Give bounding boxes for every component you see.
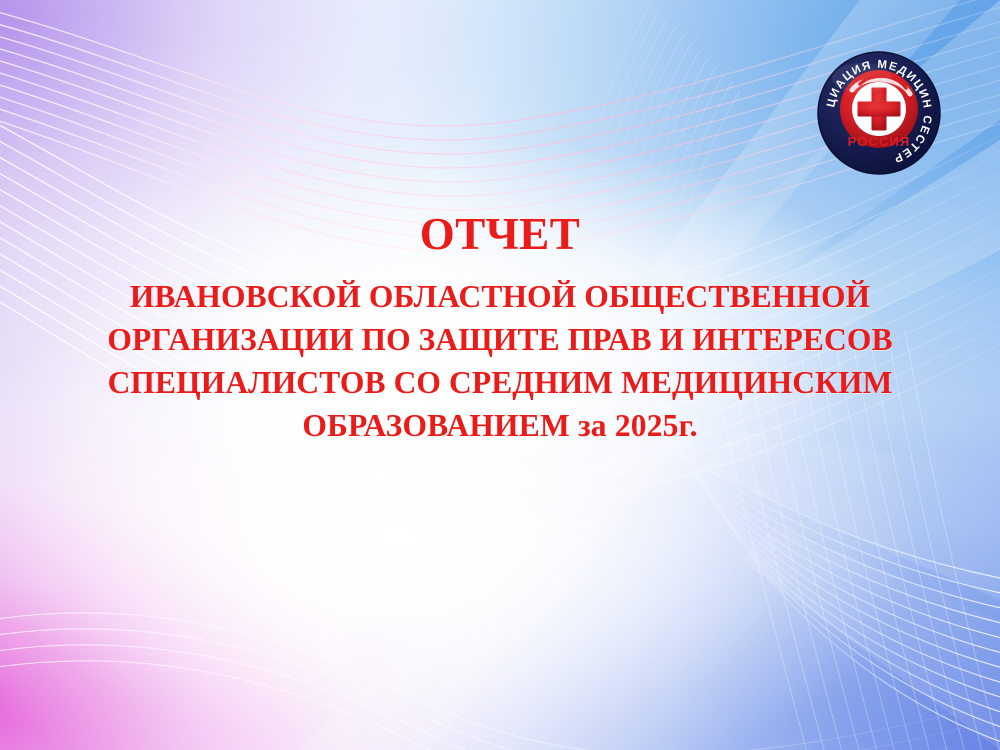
organization-line-3: СПЕЦИАЛИСТОВ СО СРЕДНИМ МЕДИЦИНСКИМ bbox=[60, 361, 940, 404]
organization-line-1: ИВАНОВСКОЙ ОБЛАСТНОЙ ОБЩЕСТВЕННОЙ bbox=[60, 275, 940, 318]
organization-line-4: ОБРАЗОВАНИЕМ за 2025г. bbox=[60, 404, 940, 447]
organization-line-2: ОРГАНИЗАЦИИ ПО ЗАЩИТЕ ПРАВ И ИНТЕРЕСОВ bbox=[60, 318, 940, 361]
logo-country-label: РОССИЯ bbox=[848, 134, 911, 149]
slide-text-block: ОТЧЕТ ИВАНОВСКОЙ ОБЛАСТНОЙ ОБЩЕСТВЕННОЙ … bbox=[60, 212, 940, 447]
page-title: ОТЧЕТ bbox=[60, 212, 940, 257]
presentation-slide: АССОЦИАЦИЯ МЕДИЦИНСКИХ СЕСТЕР РОССИЯ bbox=[0, 0, 1000, 750]
association-of-nurses-russia-logo: АССОЦИАЦИЯ МЕДИЦИНСКИХ СЕСТЕР РОССИЯ bbox=[816, 50, 942, 176]
